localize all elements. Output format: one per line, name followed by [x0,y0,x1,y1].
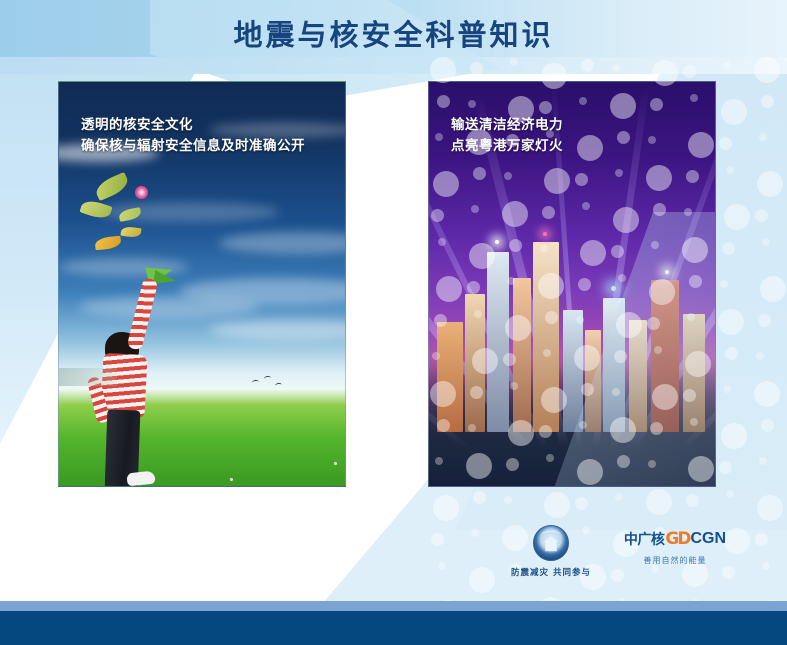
poster-line-1: 透明的核安全文化 [81,115,305,136]
bird-icon [275,383,283,389]
leaf-icon [79,198,112,222]
child-shoe [126,471,155,487]
earthquake-prevention-seal-icon [533,525,569,561]
flower-icon [135,186,148,199]
distant-skyline [59,368,117,386]
clean-power-poster[interactable]: 输送清洁经济电力 点亮粤港万家灯火 [428,81,716,487]
footer-logo-group: 防震减灾 共同参与 中广核 GD CGN 善用自然的能量 [495,525,735,587]
poster-text-block: 输送清洁经济电力 点亮粤港万家灯火 [451,115,563,157]
cloud-shape [219,232,346,254]
cgn-tagline: 善用自然的能量 [615,555,735,566]
poster-line-1: 输送清洁经济电力 [451,115,563,136]
cloud-shape [79,296,259,318]
poster-line-2: 确保核与辐射安全信息及时准确公开 [81,136,305,157]
footer-bar [0,611,787,645]
cgn-logo[interactable]: 中广核 GD CGN 善用自然的能量 [615,529,735,566]
slide-canvas: 地震与核安全科普知识 透明的核安全文化 确保核与辐射安全信息及时准确公开 [0,0,787,645]
leaf-icon [93,172,131,201]
leaf-icon [94,236,121,251]
poster-text-block: 透明的核安全文化 确保核与辐射安全信息及时准确公开 [81,115,305,157]
earthquake-prevention-logo[interactable]: 防震减灾 共同参与 [495,525,607,578]
cgn-chinese-name: 中广核 [624,529,665,549]
bird-icon [264,376,272,382]
nuclear-safety-culture-poster[interactable]: 透明的核安全文化 确保核与辐射安全信息及时准确公开 [58,81,346,487]
cloud-shape [209,320,346,340]
footer-accent-strip [0,601,787,611]
page-title: 地震与核安全科普知识 [0,12,787,54]
cgn-swirl-icon: GD [665,529,689,549]
bird-icon [252,380,260,386]
leaf-icon [120,226,141,239]
earthquake-prevention-caption: 防震减灾 共同参与 [495,566,607,578]
poster-line-2: 点亮粤港万家灯火 [451,136,563,157]
cgn-english-name: CGN [691,530,727,548]
